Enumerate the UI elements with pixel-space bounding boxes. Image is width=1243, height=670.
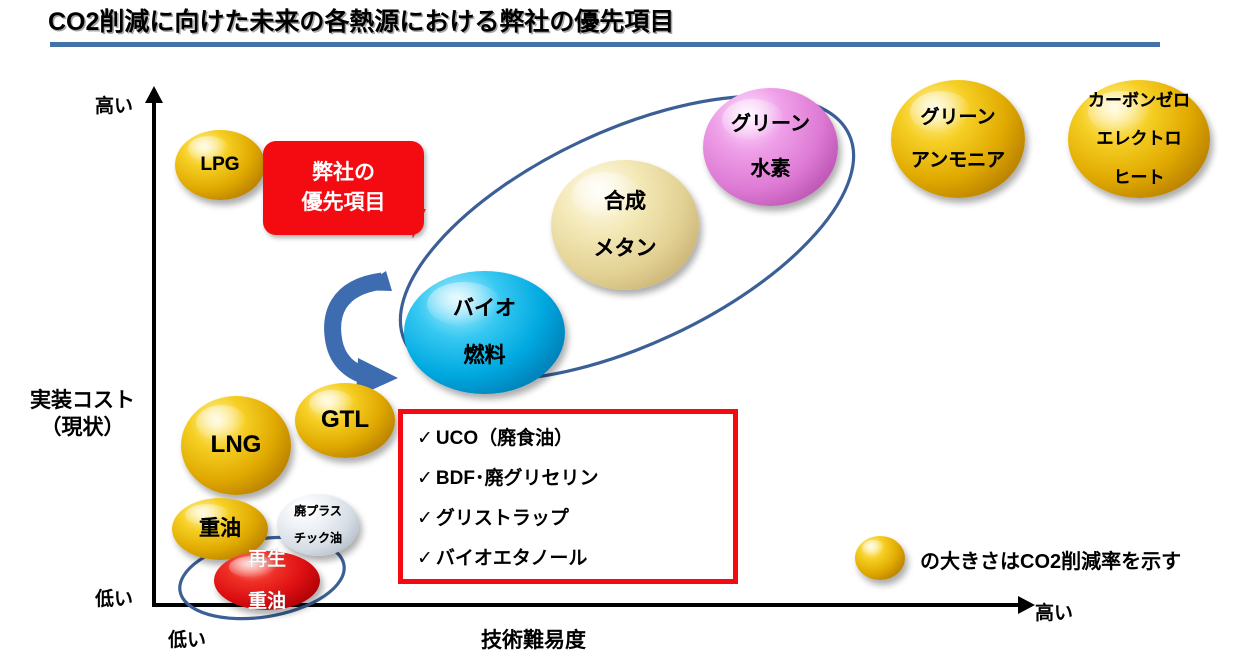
bubble-czeh-line1: カーボンゼロ	[1088, 91, 1190, 110]
title-underline	[50, 42, 1160, 47]
bubble-lpg-label: LPG	[200, 154, 239, 175]
bubble-biofuel[interactable]: バイオ 燃料	[404, 271, 565, 394]
bubble-heavy-oil-label: 重油	[199, 517, 241, 541]
bubble-carbon-zero-electro-heat[interactable]: カーボンゼロ エレクトロ ヒート	[1068, 80, 1210, 198]
y-axis-low-label: 低い	[95, 584, 133, 611]
checklist-item-label: グリストラップ	[436, 503, 569, 530]
slide-canvas: CO2削減に向けた未来の各熱源における弊社の優先項目 高い 低い 実装コスト （…	[0, 0, 1243, 670]
y-axis-line	[152, 100, 156, 607]
bubble-saisei-line1: 再生	[248, 549, 286, 570]
bubble-biofuel-label: バイオ 燃料	[453, 297, 516, 368]
checklist-item-label: BDF･廃グリセリン	[436, 463, 599, 490]
x-axis-arrowhead-icon	[1018, 596, 1035, 614]
check-icon: ✓	[417, 467, 433, 490]
feedstock-checklist-panel: ✓ UCO（廃食油） ✓ BDF･廃グリセリン ✓ グリストラップ ✓ バイオエ…	[398, 409, 738, 584]
bubble-waste-plastic-oil-label: 廃プラス チック油	[294, 505, 342, 545]
x-axis-high-label: 高い	[1035, 598, 1073, 625]
x-axis-low-label: 低い	[168, 625, 206, 652]
check-icon: ✓	[417, 427, 433, 450]
page-title: CO2削減に向けた未来の各熱源における弊社の優先項目	[48, 2, 674, 38]
bubble-plastic-line1: 廃プラス	[294, 505, 342, 518]
y-axis-title: 実装コスト （現状）	[30, 387, 135, 441]
priority-callout-text: 弊社の 優先項目	[302, 158, 386, 218]
checklist-item-label: バイオエタノール	[436, 543, 587, 570]
priority-callout-line1: 弊社の	[302, 158, 386, 188]
bubble-plastic-line2: チック油	[294, 532, 342, 545]
bubble-czeh-line2: エレクトロ	[1088, 129, 1190, 148]
legend-bubble-icon	[855, 536, 905, 580]
bubble-green-hydrogen-line2: 水素	[731, 158, 810, 180]
priority-callout[interactable]: 弊社の 優先項目	[263, 141, 424, 235]
bubble-recycled-heavy-oil-label: 再生 重油	[248, 549, 286, 613]
priority-callout-tail	[409, 204, 428, 238]
checklist-item: ✓ UCO（廃食油）	[417, 423, 733, 450]
bubble-recycled-heavy-oil[interactable]: 再生 重油	[214, 551, 320, 610]
bubble-methane-line2: メタン	[594, 237, 657, 261]
bubble-green-ammonia-line2: アンモニア	[911, 150, 1005, 171]
checklist-item-label: UCO（廃食油）	[436, 423, 573, 450]
bubble-synthetic-methane[interactable]: 合成 メタン	[551, 160, 699, 290]
bubble-green-hydrogen-label: グリーン 水素	[731, 113, 810, 180]
bubble-green-ammonia-label: グリーン アンモニア	[911, 107, 1005, 171]
check-icon: ✓	[417, 547, 433, 570]
legend-label: の大きさはCO2削減率を示す	[920, 545, 1181, 574]
bubble-czeh-line3: ヒート	[1088, 168, 1190, 187]
bubble-synthetic-methane-label: 合成 メタン	[594, 190, 657, 261]
bubble-lng-label: LNG	[211, 432, 262, 459]
bubble-saisei-line2: 重油	[248, 591, 286, 612]
bubble-green-hydrogen[interactable]: グリーン 水素	[703, 88, 838, 206]
bubble-biofuel-line2: 燃料	[453, 344, 516, 368]
curved-arrow-icon	[333, 271, 398, 397]
checklist-item: ✓ グリストラップ	[417, 503, 733, 530]
bubble-green-ammonia-line1: グリーン	[911, 107, 1005, 128]
y-axis-title-line2: （現状）	[30, 414, 135, 441]
check-icon: ✓	[417, 507, 433, 530]
priority-callout-line2: 優先項目	[302, 188, 386, 218]
bubble-gtl-label: GTL	[321, 407, 369, 434]
bubble-carbon-zero-electro-heat-label: カーボンゼロ エレクトロ ヒート	[1088, 91, 1190, 186]
checklist-item: ✓ BDF･廃グリセリン	[417, 463, 733, 490]
checklist-item: ✓ バイオエタノール	[417, 543, 733, 570]
bubble-waste-plastic-oil[interactable]: 廃プラス チック油	[277, 494, 359, 556]
y-axis-arrowhead-icon	[145, 86, 163, 103]
bubble-biofuel-line1: バイオ	[453, 297, 516, 321]
y-axis-high-label: 高い	[95, 91, 133, 118]
bubble-lpg[interactable]: LPG	[175, 130, 265, 200]
bubble-green-ammonia[interactable]: グリーン アンモニア	[891, 80, 1025, 198]
bubble-lng[interactable]: LNG	[181, 396, 291, 495]
bubble-gtl[interactable]: GTL	[295, 383, 395, 458]
x-axis-title: 技術難易度	[481, 624, 586, 654]
y-axis-title-line1: 実装コスト	[30, 387, 135, 414]
bubble-methane-line1: 合成	[594, 190, 657, 214]
bubble-green-hydrogen-line1: グリーン	[731, 113, 810, 135]
